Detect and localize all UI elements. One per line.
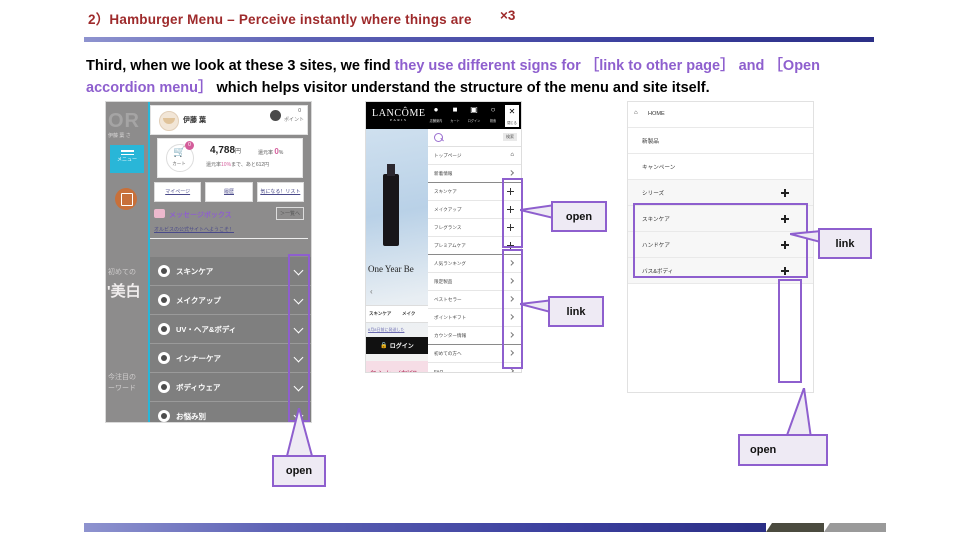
orbis-welcome-link[interactable]: オルビスの公式サイトへようこそ！ [154,226,234,233]
orbis-quick-buttons: マイページ 履歴 気になる！リスト [154,182,304,202]
close-icon[interactable]: ✕閉じる [505,105,519,127]
hamburger-icon-bar [121,154,134,156]
lancome-menu-label: FAQ [434,369,443,373]
callout-open-left: open [272,455,326,487]
orbis-menu-item-uv-hair-body[interactable]: UV・ヘア&ボディ [150,315,311,344]
highlight-box-orbis-open [288,254,310,422]
orbis-rate: 還元率 0% [258,147,283,156]
lancome-icon-label: 店舗案内 [429,116,443,126]
orbis-menu-label: インナーケア [176,353,221,364]
hamburger-icon-bar [121,150,134,152]
cart-badge: 0 [185,141,194,150]
orbis-logo-sub: 伊藤 葉 さ [108,132,131,139]
lancome-hero-title: One Year Be [368,264,414,274]
lancome-login-label: ログイン [390,341,414,350]
callout-tail-open-left [286,408,316,460]
chevron-right-icon [508,170,514,176]
orbis-mypage-button[interactable]: マイページ [154,182,201,202]
loccitane-row-campaign[interactable]: キャンペーン [628,154,813,180]
lancome-header-icons: ●店舗案内 ■カート ▣ログイン ○検索 ✕閉じる [429,105,519,127]
orbis-cart-summary[interactable]: カート 0 4,788円 還元率 0% 還元率10%まで、あと612円 [157,138,303,178]
loccitane-row-label: キャンペーン [642,163,675,171]
orbis-menu-item-bodywear[interactable]: ボディウェア [150,373,311,402]
orbis-point-label: ポイント [284,116,304,123]
orbis-message-action[interactable]: ＞一覧へ [276,207,304,220]
category-icon [158,352,170,364]
plus-icon [781,189,789,197]
orbis-account-row: 伊藤 葉 0 ポイント [151,106,307,134]
screenshot-orbis: OR 伊藤 葉 さ メニュー 初めての '美白 今注目の ーワード 伊藤 葉 0… [105,101,312,423]
footer-segment-gray [824,523,886,532]
product-bottle [383,174,399,246]
orbis-accordion-menu: スキンケア メイクアップ UV・ヘア&ボディ インナーケア ボディウェア [150,257,311,423]
orbis-menu-item-skincare[interactable]: スキンケア [150,257,311,286]
orbis-cart-price: 4,788円 [210,145,241,156]
orbis-wishlist-button[interactable]: 気になる！リスト [257,182,304,202]
lancome-tab-makeup[interactable]: メイク [402,311,415,317]
location-pin-icon[interactable]: ●店舗案内 [429,105,443,127]
orbis-menu-label: ボディウェア [176,382,220,393]
home-icon: ⌂ [634,110,638,116]
lancome-icon-label: カート [448,116,462,126]
orbis-history-button[interactable]: 履歴 [205,182,252,202]
orbis-menu-label: UV・ヘア&ボディ [176,324,236,335]
orbis-rate-label: 還元率 [258,150,273,156]
lancome-promo-text: 名入れ（刻印 [369,369,417,373]
loccitane-row-label: HOME [648,111,665,117]
orbis-note-post: まで、あと612円 [231,162,269,168]
lead-part-3: which helps visitor understand the struc… [213,80,710,96]
lancome-menu-label: メイクアップ [434,207,461,213]
orbis-ghost-text-3: ーワード [108,383,136,393]
lancome-menu-label: 初めての方へ [434,351,462,357]
orbis-point-value: 0 [298,108,301,114]
point-icon [270,110,281,121]
lock-icon: 🔒 [380,342,387,349]
orbis-cart-price-unit: 円 [235,149,241,155]
lock-icon[interactable]: ▣ログイン [467,105,481,127]
footer-bar [84,523,766,532]
search-icon[interactable]: ○検索 [486,105,500,127]
lancome-menu-label: 限定製品 [434,279,452,285]
orbis-menu-item-innercare[interactable]: インナーケア [150,344,311,373]
lancome-menu-label: フレグランス [434,225,461,231]
lancome-hero-tabs: スキンケア メイク [366,305,428,323]
home-icon: ⌂ [510,152,514,158]
title-divider [84,37,874,42]
lancome-menu-item-top[interactable]: トップページ ⌂ [428,147,521,165]
orbis-cart-label: カート [167,161,191,167]
callout-open-middle: open [551,201,607,232]
category-icon [158,323,170,335]
lancome-login-button[interactable]: 🔒 ログイン [366,337,428,354]
orbis-ghost-headline: '美白 [107,280,141,301]
lancome-logo: LANCÔMEPARIS [372,108,426,122]
lancome-icon-label: 閉じる [505,118,519,128]
loccitane-row-new[interactable]: 新製品 [628,128,813,154]
orbis-menu-label: スキンケア [176,266,213,277]
lead-paragraph: Third, when we look at these 3 sites, we… [86,55,886,99]
category-icon [158,410,170,422]
orbis-menu-label: メイクアップ [176,295,221,306]
hamburger-menu-label: メニュー [117,157,137,163]
orbis-user-name: 伊藤 葉 [183,115,206,125]
lancome-menu-label: カウンター情報 [434,333,466,339]
orbis-user-name-text: 伊藤 葉 [183,117,206,124]
screenshot-lancome: LANCÔMEPARIS ●店舗案内 ■カート ▣ログイン ○検索 ✕閉じる O… [365,101,522,373]
bag-icon[interactable]: ■カート [448,105,462,127]
loccitane-row-label: シリーズ [642,189,664,197]
category-icon [158,294,170,306]
orbis-account-card: 伊藤 葉 0 ポイント [150,105,308,135]
mail-icon [154,209,165,218]
category-icon [158,381,170,393]
search-button[interactable]: 検索 [503,133,517,141]
orbis-menu-item-makeup[interactable]: メイクアップ [150,286,311,315]
lancome-note-link[interactable]: 6月8日前に発送した [368,327,404,333]
bag-icon[interactable] [115,188,137,210]
title-multiplier: ×3 [500,8,515,23]
lancome-hero-image: One Year Be ‹ スキンケア メイク 6月8日前に発送した 🔒 ログイ… [366,129,428,372]
orbis-ghost-text-2: 今注目の [108,372,136,382]
lancome-tab-skincare[interactable]: スキンケア [369,311,391,317]
orbis-menu-label: お悩み別 [176,411,206,422]
orbis-logo: OR [108,110,140,133]
lancome-menu-label: プレミアムケア [434,243,466,249]
orbis-note-highlight: 10% [221,162,231,168]
slide-root: 2）Hamburger Menu – Perceive instantly wh… [0,0,960,540]
callout-link-middle: link [548,296,604,327]
loccitane-row-label: 新製品 [642,137,659,145]
lancome-promo-banner[interactable]: 名入れ（刻印 [366,361,428,373]
carousel-prev-icon[interactable]: ‹ [370,287,373,296]
orbis-note-pre: 還元率 [206,162,221,168]
highlight-box-loccitane-link [633,203,808,278]
loccitane-link-rows: ⌂ HOME 新製品 キャンペーン [628,102,813,180]
lancome-menu-label: ポイントギフト [434,315,466,321]
lancome-menu-label: 人気ランキング [434,261,466,267]
highlight-box-loccitane-open [778,279,802,383]
orbis-message-box[interactable]: メッセージボックス ＞一覧へ [154,206,304,222]
search-field[interactable]: 検索 [428,129,521,147]
lancome-menu-label: 新着情報 [434,171,452,177]
lancome-icon-label: 検索 [486,116,500,126]
orbis-divider [150,238,308,239]
lancome-header: LANCÔMEPARIS ●店舗案内 ■カート ▣ログイン ○検索 ✕閉じる [366,102,521,129]
orbis-cart-note: 還元率10%まで、あと612円 [206,161,269,168]
callout-link-right: link [818,228,872,259]
orbis-rate-unit: % [279,150,283,156]
page-title: 2）Hamburger Menu – Perceive instantly wh… [88,8,472,28]
orbis-ghost-text-1: 初めての [108,267,136,277]
lead-part-1: Third, when we look at these 3 sites, we… [86,58,395,74]
category-icon [158,265,170,277]
orbis-cart-price-value: 4,788 [210,145,235,156]
orbis-message-title: メッセージボックス [169,210,232,220]
hamburger-menu-button[interactable]: メニュー [110,145,144,173]
lancome-menu-label: ベストセラー [434,297,462,303]
search-icon [434,133,443,142]
avatar [159,111,179,131]
lancome-menu-label: スキンケア [434,189,457,195]
footer-segment-dark [766,523,824,532]
loccitane-row-home[interactable]: ⌂ HOME [628,102,813,128]
callout-open-right: open [738,434,828,466]
lancome-icon-label: ログイン [467,116,481,126]
lancome-menu-label: トップページ [434,153,461,159]
